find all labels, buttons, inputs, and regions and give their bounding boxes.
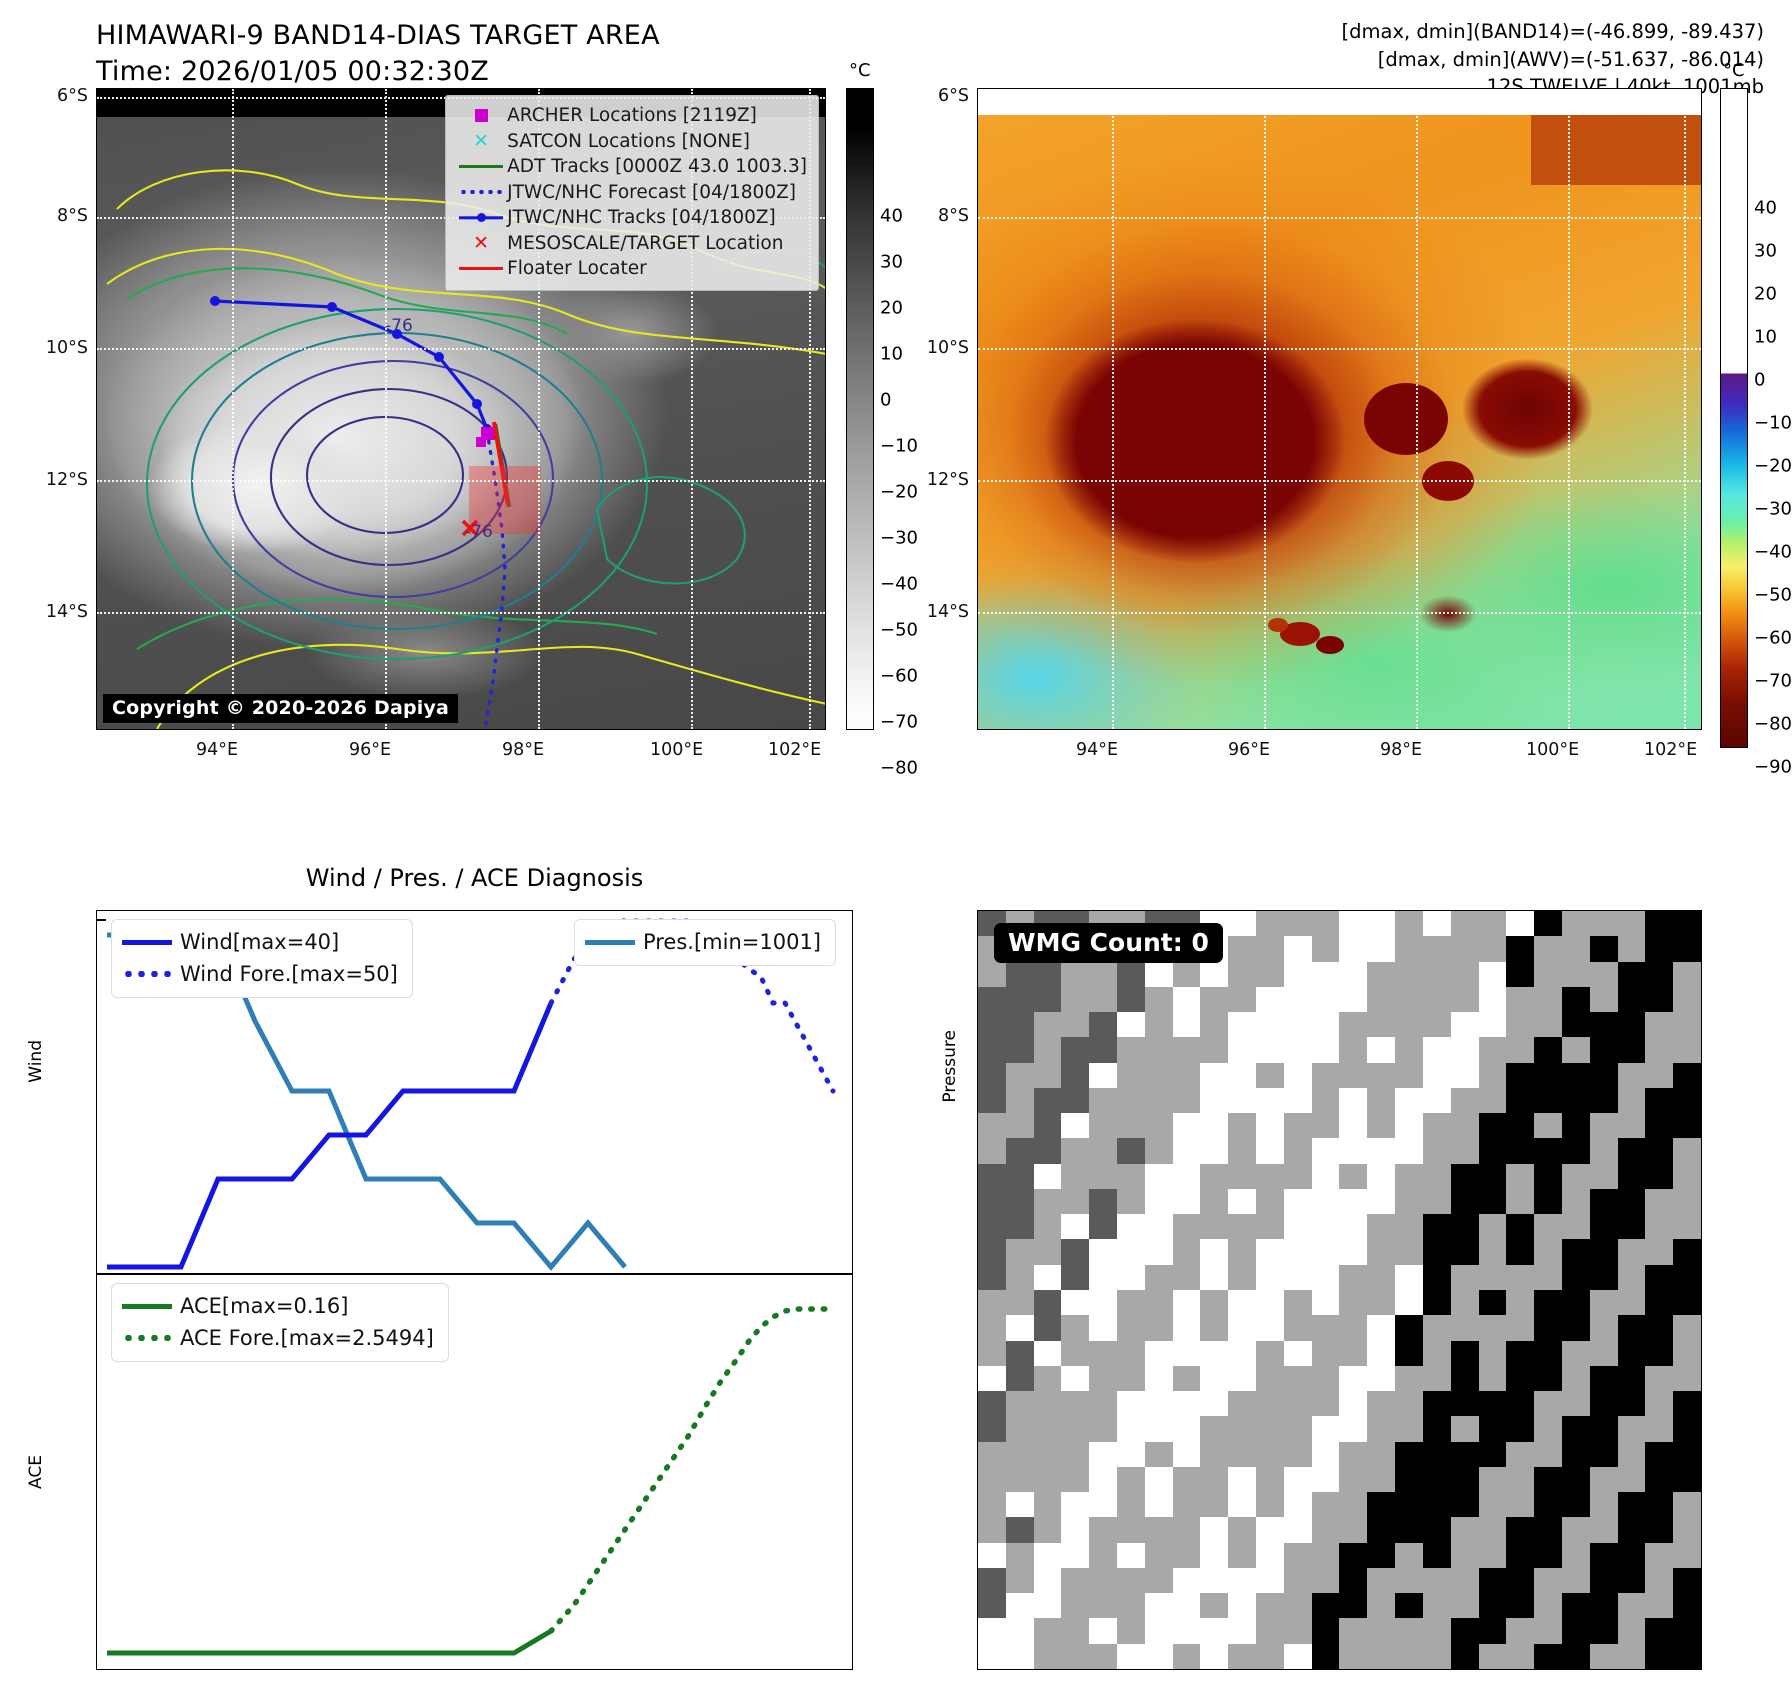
wmg-cell — [1284, 1265, 1312, 1290]
wmg-cell — [1423, 1593, 1451, 1618]
wmg-cell — [1061, 1391, 1089, 1416]
wmg-cell — [1618, 1189, 1646, 1214]
wmg-cell — [1339, 962, 1367, 987]
wmg-cell — [1339, 1138, 1367, 1163]
wmg-cell — [1145, 1442, 1173, 1467]
wmg-cell — [1284, 1492, 1312, 1517]
wmg-cell — [1284, 1063, 1312, 1088]
wmg-cell — [1367, 1341, 1395, 1366]
legend-label: Wind[max=40] — [180, 930, 339, 954]
wmg-cell — [1590, 1517, 1618, 1542]
wmg-cell — [1228, 1568, 1256, 1593]
wmg-cell — [1423, 1189, 1451, 1214]
wmg-cell — [1673, 1442, 1701, 1467]
wmg-cell — [1395, 1265, 1423, 1290]
wmg-cell — [1395, 1543, 1423, 1568]
colorbar-tick: −70 — [1754, 671, 1792, 692]
diagnosis-title: Wind / Pres. / ACE Diagnosis — [96, 864, 853, 892]
wmg-cell — [1506, 1088, 1534, 1113]
wmg-cell — [1367, 1644, 1395, 1669]
wmg-cell — [1673, 1341, 1701, 1366]
wmg-cell — [1200, 1492, 1228, 1517]
wmg-cell — [1256, 1416, 1284, 1441]
wmg-cell — [1534, 987, 1562, 1012]
wmg-cell — [1562, 1517, 1590, 1542]
wmg-cell — [1117, 1442, 1145, 1467]
legend-label: ACE Fore.[max=2.5494] — [180, 1326, 434, 1350]
wmg-cell — [978, 1593, 1006, 1618]
wmg-cell — [1645, 1442, 1673, 1467]
wmg-panel[interactable]: WMG Count: 0 — [977, 910, 1702, 1670]
wmg-cell — [1562, 1164, 1590, 1189]
wmg-cell — [1645, 962, 1673, 987]
wmg-cell — [1200, 1341, 1228, 1366]
mesoscale-x-icon: ✕ — [455, 234, 507, 253]
colorbar-tick: 40 — [1754, 198, 1777, 219]
wmg-cell — [1645, 1164, 1673, 1189]
wmg-cell — [1173, 1037, 1201, 1062]
wmg-cell — [1284, 1189, 1312, 1214]
wmg-cell — [1645, 1467, 1673, 1492]
wmg-cell — [1534, 1416, 1562, 1441]
wmg-cell — [1590, 1164, 1618, 1189]
legend-item-wind-forecast: Wind Fore.[max=50] — [122, 958, 398, 990]
wmg-cell — [1173, 1618, 1201, 1643]
wmg-cell — [1673, 1593, 1701, 1618]
wmg-cell — [1312, 1391, 1340, 1416]
colorbar-tick: −90 — [1754, 757, 1792, 778]
wmg-cell — [1200, 962, 1228, 987]
legend-label: ARCHER Locations [2119Z] — [507, 105, 757, 126]
wmg-cell — [1339, 936, 1367, 961]
wmg-cell — [1089, 1618, 1117, 1643]
wmg-cell — [1367, 1138, 1395, 1163]
wmg-cell — [1284, 1315, 1312, 1340]
wmg-cell — [1145, 1037, 1173, 1062]
wmg-cell — [1451, 1341, 1479, 1366]
wmg-cell — [1451, 962, 1479, 987]
wmg-cell — [1034, 1593, 1062, 1618]
wmg-cell — [1339, 1442, 1367, 1467]
wmg-cell — [1173, 1113, 1201, 1138]
wmg-cell — [1200, 1644, 1228, 1669]
ace-line-icon — [122, 1304, 180, 1309]
wmg-cell — [1200, 1290, 1228, 1315]
wmg-cell — [1228, 1517, 1256, 1542]
wmg-cell — [1562, 1467, 1590, 1492]
wmg-cell — [1367, 1113, 1395, 1138]
wmg-cell — [1228, 1593, 1256, 1618]
wmg-cell — [1228, 1442, 1256, 1467]
wmg-cell — [1200, 1366, 1228, 1391]
wmg-cell — [1451, 1442, 1479, 1467]
wmg-cell — [1061, 1012, 1089, 1037]
wmg-cell — [1256, 1290, 1284, 1315]
wmg-cell — [1284, 1290, 1312, 1315]
wmg-cell — [1089, 1568, 1117, 1593]
legend-label: SATCON Locations [NONE] — [507, 131, 750, 152]
wmg-cell-grid — [978, 911, 1701, 1669]
wmg-cell — [1089, 1543, 1117, 1568]
wmg-cell — [1228, 1492, 1256, 1517]
wmg-cell — [1590, 1568, 1618, 1593]
wmg-cell — [1034, 1315, 1062, 1340]
wmg-cell — [1284, 1164, 1312, 1189]
wmg-cell — [1534, 1618, 1562, 1643]
wmg-cell — [1506, 1568, 1534, 1593]
legend-label: Pres.[min=1001] — [643, 930, 821, 954]
legend-label: Wind Fore.[max=50] — [180, 962, 398, 986]
wmg-cell — [1562, 1593, 1590, 1618]
wmg-cell — [1645, 1644, 1673, 1669]
wmg-cell — [1562, 1442, 1590, 1467]
wmg-cell — [1590, 1290, 1618, 1315]
wmg-cell — [1645, 1113, 1673, 1138]
wmg-cell — [1256, 1517, 1284, 1542]
latitude-gridline — [978, 612, 1701, 614]
wmg-cell — [1534, 1366, 1562, 1391]
wmg-cell — [1590, 1088, 1618, 1113]
wmg-cell — [1173, 1644, 1201, 1669]
wmg-cell — [978, 1644, 1006, 1669]
wmg-cell — [1117, 1467, 1145, 1492]
wmg-cell — [1534, 1012, 1562, 1037]
wmg-cell — [1423, 1341, 1451, 1366]
wmg-cell — [1367, 962, 1395, 987]
pressure-axis-title: Pressure — [940, 1030, 960, 1103]
wmg-cell — [1228, 1189, 1256, 1214]
map-right-lat-label: 12°S — [887, 470, 969, 490]
wmg-cell — [1506, 1138, 1534, 1163]
wmg-cell — [1061, 1164, 1089, 1189]
wmg-cell — [978, 962, 1006, 987]
wmg-cell — [1479, 1517, 1507, 1542]
wmg-cell — [1089, 1467, 1117, 1492]
wmg-cell — [1673, 1189, 1701, 1214]
wmg-cell — [1006, 1467, 1034, 1492]
wmg-cell — [1256, 1037, 1284, 1062]
wmg-cell — [1673, 1037, 1701, 1062]
wmg-cell — [1673, 1290, 1701, 1315]
legend-item-ace: ACE[max=0.16] — [122, 1290, 434, 1322]
wmg-cell — [1618, 1214, 1646, 1239]
ace-forecast-line — [551, 1309, 833, 1631]
wind-pressure-chart[interactable]: 50 45 40 35 30 25 20 15 1007 1006 1005 1… — [96, 910, 853, 1274]
wmg-cell — [1534, 1063, 1562, 1088]
satellite-map-enhanced-ir[interactable] — [977, 88, 1702, 730]
wmg-cell — [978, 1315, 1006, 1340]
wmg-cell — [1395, 1391, 1423, 1416]
wmg-cell — [1451, 1138, 1479, 1163]
wmg-cell — [1618, 1290, 1646, 1315]
wmg-cell — [1173, 1366, 1201, 1391]
wmg-cell — [1562, 962, 1590, 987]
wmg-cell — [1312, 1113, 1340, 1138]
map-left-lon-label: 102°E — [768, 740, 821, 760]
wmg-cell — [1312, 1492, 1340, 1517]
wmg-cell — [1645, 1315, 1673, 1340]
wmg-cell — [1006, 1341, 1034, 1366]
colorbar-tick: 30 — [1754, 241, 1777, 262]
wmg-cell — [1673, 962, 1701, 987]
legend-item-satcon: ✕ SATCON Locations [NONE] — [455, 129, 807, 155]
wmg-cell — [1339, 1341, 1367, 1366]
wmg-cell — [1006, 962, 1034, 987]
wmg-cell — [1423, 1568, 1451, 1593]
map-left-lat-label: 6°S — [16, 86, 88, 106]
colorbar-gradient — [846, 88, 874, 730]
wmg-cell — [1284, 987, 1312, 1012]
wmg-cell — [1173, 1239, 1201, 1264]
wmg-cell — [1590, 911, 1618, 936]
wmg-cell — [1590, 1012, 1618, 1037]
wmg-cell — [1312, 1138, 1340, 1163]
wmg-cell — [1089, 987, 1117, 1012]
wmg-cell — [1256, 987, 1284, 1012]
wmg-cell — [1089, 1315, 1117, 1340]
wmg-cell — [1451, 1644, 1479, 1669]
wmg-cell — [1506, 1290, 1534, 1315]
longitude-gridline — [1568, 89, 1570, 729]
wmg-cell — [1423, 1265, 1451, 1290]
wmg-cell — [1006, 1164, 1034, 1189]
wmg-cell — [1228, 1644, 1256, 1669]
wmg-cell — [1173, 1568, 1201, 1593]
wmg-cell — [1200, 1012, 1228, 1037]
colorbar-tick: −20 — [1754, 456, 1792, 477]
wmg-cell — [1618, 1618, 1646, 1643]
wmg-cell — [1645, 1416, 1673, 1441]
wmg-cell — [978, 1442, 1006, 1467]
wmg-cell — [978, 1568, 1006, 1593]
wmg-cell — [1117, 1416, 1145, 1441]
wmg-cell — [1034, 1644, 1062, 1669]
wmg-cell — [1367, 1517, 1395, 1542]
wmg-cell — [1673, 1391, 1701, 1416]
wmg-cell — [1061, 1290, 1089, 1315]
wmg-cell — [1034, 1265, 1062, 1290]
wmg-cell — [1423, 1442, 1451, 1467]
colorbar-tick: 0 — [880, 390, 891, 411]
wmg-cell — [1645, 1517, 1673, 1542]
wmg-cell — [1479, 1265, 1507, 1290]
wmg-cell — [1089, 1265, 1117, 1290]
wmg-cell — [1367, 1290, 1395, 1315]
wmg-cell — [1145, 1164, 1173, 1189]
wmg-cell — [1061, 1037, 1089, 1062]
wmg-cell — [1367, 1088, 1395, 1113]
wmg-cell — [1034, 1290, 1062, 1315]
wmg-cell — [1395, 1138, 1423, 1163]
wmg-cell — [1367, 1214, 1395, 1239]
ace-chart[interactable]: 2.5 2.0 1.5 1.0 0.5 0.0 ACE[max=0.16] AC… — [96, 1274, 853, 1670]
wmg-cell — [1423, 1618, 1451, 1643]
pressure-legend: Pres.[min=1001] — [574, 919, 836, 966]
wmg-cell — [1200, 1037, 1228, 1062]
wmg-cell — [1034, 987, 1062, 1012]
colorbar-tick: −40 — [1754, 542, 1792, 563]
wmg-cell — [1367, 1315, 1395, 1340]
wmg-cell — [1200, 1164, 1228, 1189]
wmg-cell — [1451, 1164, 1479, 1189]
wmg-cell — [978, 1290, 1006, 1315]
wmg-cell — [1117, 1593, 1145, 1618]
wmg-cell — [1590, 1113, 1618, 1138]
legend-item-wind: Wind[max=40] — [122, 926, 398, 958]
wmg-cell — [1479, 1063, 1507, 1088]
wmg-cell — [1228, 1366, 1256, 1391]
wmg-cell — [1534, 1467, 1562, 1492]
wmg-count-badge: WMG Count: 0 — [994, 923, 1223, 963]
wmg-cell — [1006, 1517, 1034, 1542]
wmg-cell — [1117, 962, 1145, 987]
wmg-cell — [1423, 962, 1451, 987]
wmg-cell — [1618, 1012, 1646, 1037]
wmg-cell — [1173, 1290, 1201, 1315]
colorbar-tick: −30 — [880, 528, 918, 549]
wmg-cell — [1284, 1366, 1312, 1391]
wmg-cell — [1256, 1315, 1284, 1340]
wmg-cell — [1479, 1315, 1507, 1340]
wmg-cell — [1506, 1517, 1534, 1542]
dashboard-root: HIMAWARI-9 BAND14-DIAS TARGET AREA Time:… — [0, 0, 1792, 1695]
wmg-cell — [1145, 1189, 1173, 1214]
wmg-cell — [1117, 1290, 1145, 1315]
wmg-cell — [1061, 1113, 1089, 1138]
wmg-cell — [1006, 1366, 1034, 1391]
colorbar-unit: °C — [1723, 60, 1745, 81]
wmg-cell — [1562, 1113, 1590, 1138]
wmg-cell — [1534, 1138, 1562, 1163]
map-left-lon-label: 96°E — [349, 740, 391, 760]
wmg-cell — [1006, 1189, 1034, 1214]
wmg-cell — [1339, 1113, 1367, 1138]
wmg-cell — [1061, 1315, 1089, 1340]
wmg-cell — [1534, 1239, 1562, 1264]
colorbar-tick: −10 — [1754, 413, 1792, 434]
wmg-cell — [978, 1113, 1006, 1138]
wmg-cell — [1228, 911, 1256, 936]
wmg-cell — [1312, 1644, 1340, 1669]
satellite-map-band14[interactable]: -76 -76 Copyright © 2020-2026 Dapiya ARC… — [96, 88, 826, 730]
wmg-cell — [1312, 911, 1340, 936]
wmg-cell — [1061, 1644, 1089, 1669]
wmg-cell — [1367, 1618, 1395, 1643]
wmg-cell — [1395, 1214, 1423, 1239]
wmg-cell — [1673, 1164, 1701, 1189]
map-raster-grayscale: -76 -76 Copyright © 2020-2026 Dapiya ARC… — [97, 89, 825, 729]
wmg-cell — [1451, 1315, 1479, 1340]
wmg-cell — [1061, 1189, 1089, 1214]
wmg-cell — [1673, 1265, 1701, 1290]
wmg-cell — [1284, 1568, 1312, 1593]
wmg-cell — [1590, 1543, 1618, 1568]
wmg-cell — [1173, 1012, 1201, 1037]
longitude-gridline — [1684, 89, 1686, 729]
wmg-cell — [1590, 1467, 1618, 1492]
wmg-cell — [1145, 1214, 1173, 1239]
colorbar-tick: −80 — [880, 758, 918, 779]
map-left-lon-label: 100°E — [650, 740, 703, 760]
wmg-cell — [1006, 1037, 1034, 1062]
wmg-cell — [978, 1517, 1006, 1542]
wmg-cell — [1284, 1517, 1312, 1542]
wmg-cell — [1451, 1265, 1479, 1290]
wmg-cell — [1645, 1012, 1673, 1037]
wmg-cell — [1506, 1442, 1534, 1467]
wmg-cell — [1423, 1063, 1451, 1088]
wmg-cell — [1479, 1593, 1507, 1618]
wmg-cell — [1506, 1644, 1534, 1669]
wmg-cell — [1256, 1214, 1284, 1239]
wmg-cell — [1145, 987, 1173, 1012]
wmg-cell — [978, 1543, 1006, 1568]
wmg-cell — [1395, 1442, 1423, 1467]
wmg-cell — [1117, 1568, 1145, 1593]
adt-line-icon — [455, 165, 507, 168]
wmg-cell — [1562, 1618, 1590, 1643]
wmg-cell — [1145, 1315, 1173, 1340]
colorbar-tick: 10 — [1754, 327, 1777, 348]
wmg-cell — [1367, 1164, 1395, 1189]
map-left-lon-label: 98°E — [502, 740, 544, 760]
wmg-cell — [1284, 1037, 1312, 1062]
wmg-cell — [1479, 987, 1507, 1012]
wmg-cell — [1423, 1290, 1451, 1315]
wmg-cell — [1618, 1416, 1646, 1441]
colorbar-tick: −50 — [880, 620, 918, 641]
colorbar-tick: −50 — [1754, 585, 1792, 606]
wmg-cell — [1089, 1492, 1117, 1517]
contour-label: -76 — [465, 522, 493, 542]
wmg-cell — [1367, 1568, 1395, 1593]
wmg-cell — [1423, 1113, 1451, 1138]
wmg-cell — [1506, 936, 1534, 961]
wmg-cell — [1284, 911, 1312, 936]
wmg-cell — [1645, 1593, 1673, 1618]
wmg-cell — [1089, 1164, 1117, 1189]
wmg-cell — [1312, 1239, 1340, 1264]
wmg-cell — [1423, 1543, 1451, 1568]
colorbar-tick: 0 — [1754, 370, 1765, 391]
legend-label: Floater Locater — [507, 258, 647, 279]
wind-axis-title: Wind — [26, 1040, 46, 1083]
colorbar-tick: −70 — [880, 712, 918, 733]
wmg-cell — [1312, 1416, 1340, 1441]
wmg-cell — [1339, 1391, 1367, 1416]
wmg-cell — [1312, 1517, 1340, 1542]
legend-item-adt: ADT Tracks [0000Z 43.0 1003.3] — [455, 154, 807, 180]
wmg-cell — [1339, 1088, 1367, 1113]
wmg-cell — [1089, 1366, 1117, 1391]
floater-line-icon — [455, 267, 507, 270]
wmg-cell — [1339, 1239, 1367, 1264]
wmg-cell — [1451, 1290, 1479, 1315]
wmg-cell — [1395, 1290, 1423, 1315]
wmg-cell — [1479, 1543, 1507, 1568]
wmg-cell — [1145, 1618, 1173, 1643]
wmg-cell — [1061, 1416, 1089, 1441]
wmg-cell — [1367, 1391, 1395, 1416]
archer-marker — [476, 437, 486, 447]
wmg-cell — [978, 1037, 1006, 1062]
wmg-cell — [1117, 1315, 1145, 1340]
wmg-cell — [1423, 1416, 1451, 1441]
wmg-cell — [1006, 1239, 1034, 1264]
wmg-cell — [1673, 1113, 1701, 1138]
wmg-cell — [1479, 1391, 1507, 1416]
wmg-cell — [978, 1416, 1006, 1441]
